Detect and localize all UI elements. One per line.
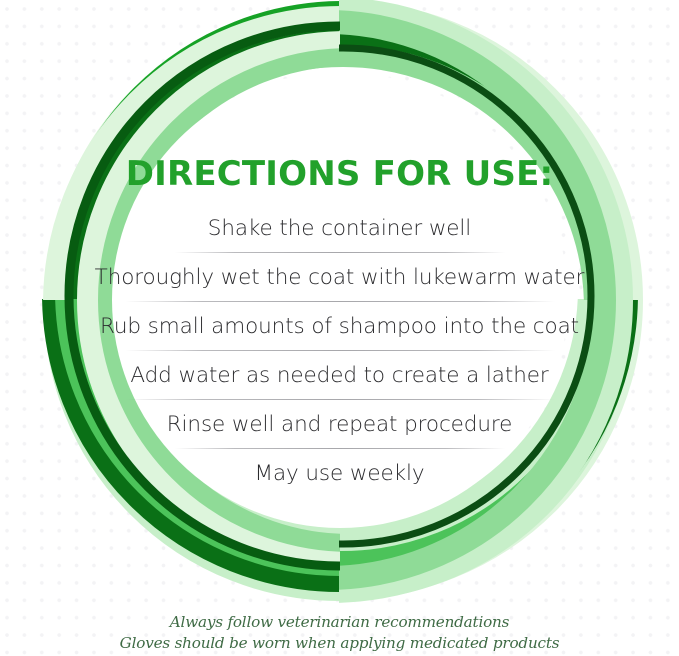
list-item: Thoroughly wet the coat with lukewarm wa… — [0, 253, 679, 301]
list-item: Rub small amounts of shampoo into the co… — [0, 302, 679, 350]
list-item: Add water as needed to create a lather — [0, 351, 679, 399]
step-text: Rub small amounts of shampoo into the co… — [100, 314, 579, 339]
list-item: Rinse well and repeat procedure — [0, 400, 679, 448]
step-text: May use weekly — [255, 461, 425, 486]
list-item: Shake the container well — [0, 204, 679, 252]
footer-line-gloves: Gloves should be worn when applying medi… — [0, 633, 679, 654]
page-title: DIRECTIONS FOR USE: — [0, 154, 679, 194]
directions-step-list: Shake the container well Thoroughly wet … — [0, 204, 679, 497]
step-text: Add water as needed to create a lather — [130, 363, 548, 388]
directions-for-use-card: DIRECTIONS FOR USE: Shake the container … — [0, 0, 679, 656]
footer-line-vet: Always follow veterinarian recommendatio… — [0, 612, 679, 633]
step-text: Thoroughly wet the coat with lukewarm wa… — [95, 265, 585, 290]
footer-note: Always follow veterinarian recommendatio… — [0, 612, 679, 654]
step-text: Shake the container well — [208, 216, 471, 241]
list-item: May use weekly — [0, 449, 679, 497]
step-text: Rinse well and repeat procedure — [167, 412, 513, 437]
